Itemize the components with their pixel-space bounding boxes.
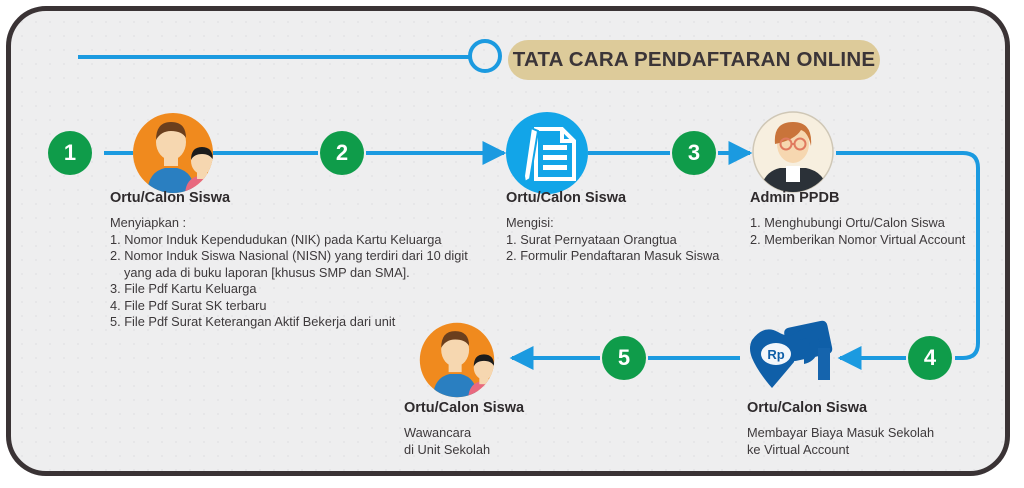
step-badge-5-label: 5: [618, 347, 630, 369]
step-badge-1[interactable]: 1: [48, 131, 92, 175]
step-badge-1-label: 1: [64, 142, 76, 164]
step-block-interview: Ortu/Calon Siswa Wawancara di Unit Sekol…: [404, 400, 524, 458]
payment-item-2: ke Virtual Account: [747, 442, 934, 459]
interview-heading: Ortu/Calon Siswa: [404, 400, 524, 416]
rupiah-symbol: Rp: [767, 347, 784, 362]
prepare-item-2-cont: yang ada di buku laporan [khusus SMP dan…: [110, 265, 468, 282]
step-badge-4-label: 4: [924, 347, 936, 369]
prepare-item-1: 1. Nomor Induk Kependudukan (NIK) pada K…: [110, 232, 468, 249]
hand-money-rupiah-icon: Rp: [748, 318, 834, 399]
fill-form-heading: Ortu/Calon Siswa: [506, 190, 719, 206]
fill-form-item-2: 2. Formulir Pendaftaran Masuk Siswa: [506, 248, 719, 265]
interview-item-1: Wawancara: [404, 425, 524, 442]
admin-item-2: 2. Memberikan Nomor Virtual Account: [750, 232, 965, 249]
title-banner: TATA CARA PENDAFTARAN ONLINE: [508, 40, 880, 80]
flowchart-canvas: TATA CARA PENDAFTARAN ONLINE: [0, 0, 1024, 488]
prepare-heading: Ortu/Calon Siswa: [110, 190, 468, 206]
fill-form-item-1: 1. Surat Pernyataan Orangtua: [506, 232, 719, 249]
step-block-admin: Admin PPDB 1. Menghubungi Ortu/Calon Sis…: [750, 190, 965, 248]
step-block-prepare: Ortu/Calon Siswa Menyiapkan : 1. Nomor I…: [110, 190, 468, 331]
step-block-payment: Ortu/Calon Siswa Membayar Biaya Masuk Se…: [747, 400, 934, 458]
step-badge-2-label: 2: [336, 142, 348, 164]
prepare-item-2: 2. Nomor Induk Siswa Nasional (NISN) yan…: [110, 248, 468, 265]
step-badge-2[interactable]: 2: [320, 131, 364, 175]
document-pen-icon: [506, 112, 588, 199]
prepare-item-4: 4. File Pdf Surat SK terbaru: [110, 298, 468, 315]
prepare-item-5: 5. File Pdf Surat Keterangan Aktif Beker…: [110, 314, 468, 331]
interview-item-2: di Unit Sekolah: [404, 442, 524, 459]
step-badge-3-label: 3: [688, 142, 700, 164]
admin-avatar-icon: [752, 110, 834, 199]
step-badge-4[interactable]: 4: [908, 336, 952, 380]
family-parent-child-icon: [133, 110, 213, 201]
payment-heading: Ortu/Calon Siswa: [747, 400, 934, 416]
step-badge-3[interactable]: 3: [672, 131, 716, 175]
admin-heading: Admin PPDB: [750, 190, 965, 206]
step-badge-5[interactable]: 5: [602, 336, 646, 380]
title-banner-text: TATA CARA PENDAFTARAN ONLINE: [513, 48, 875, 72]
step-block-fill-form: Ortu/Calon Siswa Mengisi: 1. Surat Perny…: [506, 190, 719, 265]
prepare-item-3: 3. File Pdf Kartu Keluarga: [110, 281, 468, 298]
admin-item-1: 1. Menghubungi Ortu/Calon Siswa: [750, 215, 965, 232]
fill-form-intro: Mengisi:: [506, 215, 719, 232]
prepare-intro: Menyiapkan :: [110, 215, 468, 232]
family-parent-child-icon-bottom: [418, 320, 496, 405]
payment-item-1: Membayar Biaya Masuk Sekolah: [747, 425, 934, 442]
